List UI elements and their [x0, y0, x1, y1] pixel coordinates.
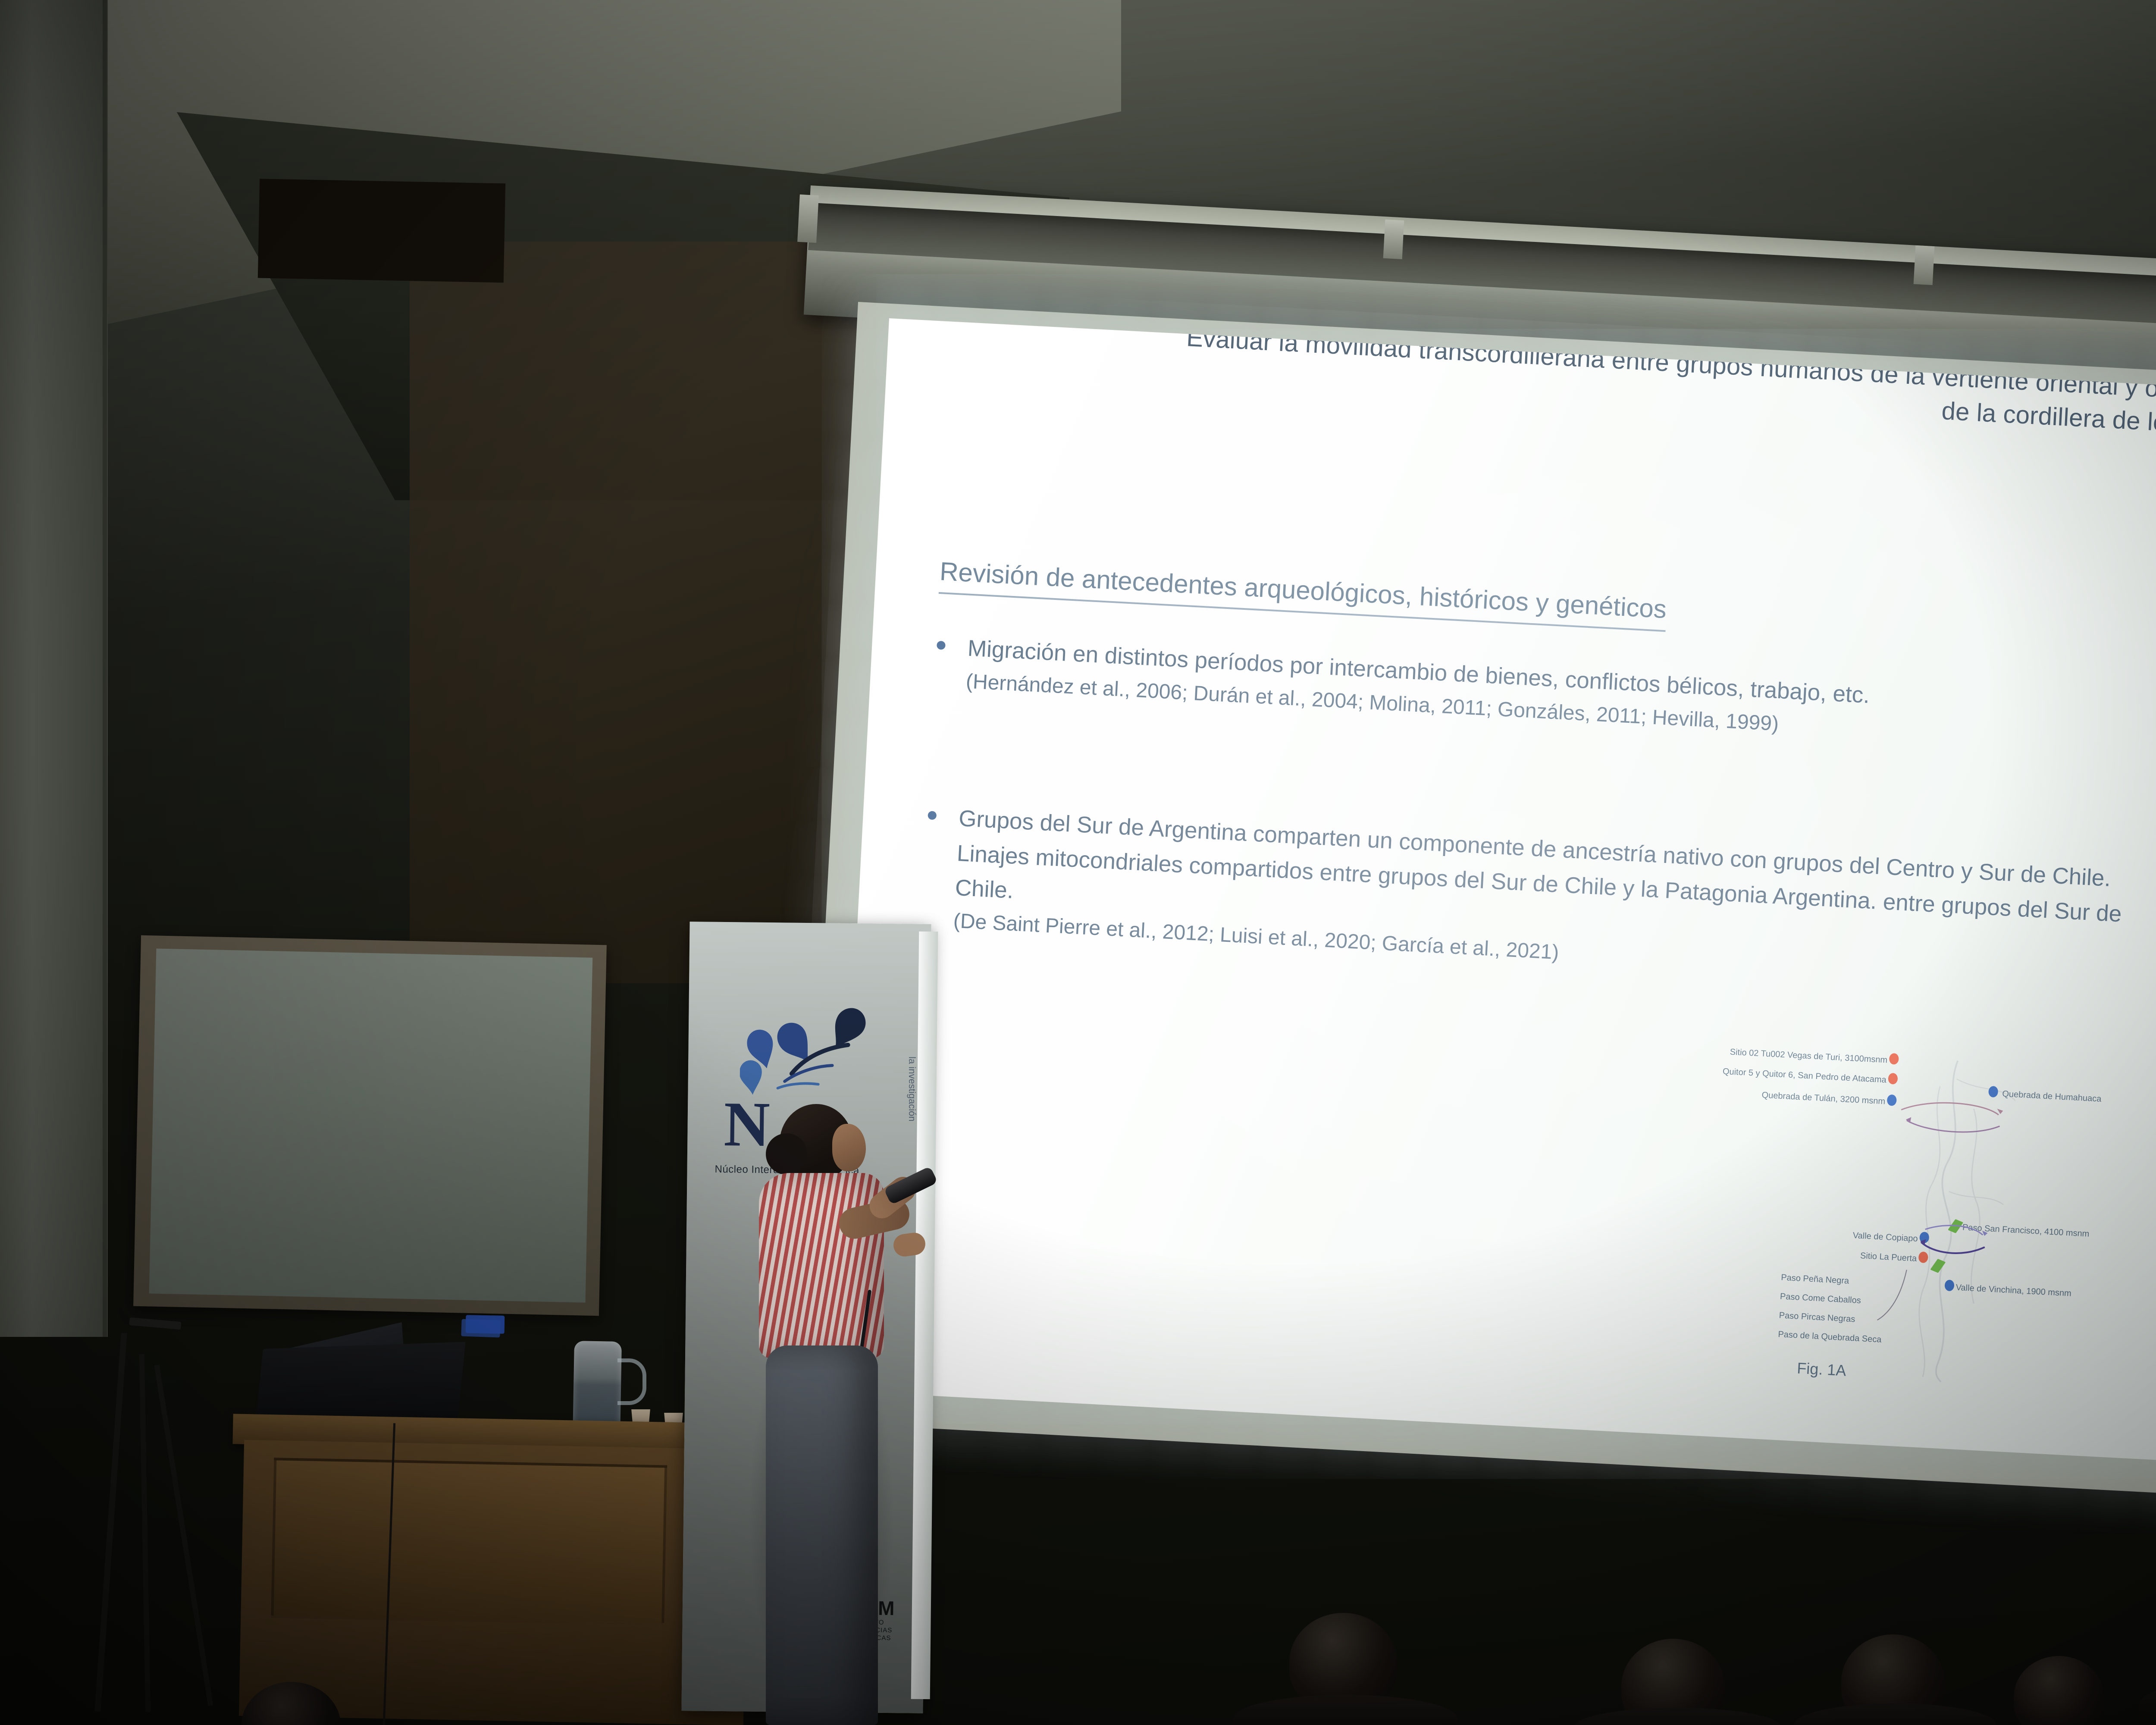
slide-subtitle: Revisión de antecedentes arqueológicos, … [939, 556, 1667, 632]
whiteboard-ghost-text: Ene [295, 1072, 370, 1117]
speaker-legs [766, 1345, 878, 1725]
speaker-hand [892, 1231, 927, 1258]
wall-pillar [0, 0, 108, 1337]
desk-front-panel [271, 1458, 667, 1625]
bullet-dot-icon [937, 641, 946, 650]
photograph-scene: Evaluar la movilidad transcordillerana e… [0, 0, 2156, 1725]
migration-arrows-icon [1745, 1038, 2156, 1406]
speaker-hair-bun [766, 1133, 807, 1175]
speaker-face [832, 1124, 866, 1171]
presentation-slide: Evaluar la movilidad transcordillerana e… [833, 318, 2156, 1465]
slide-bullet: Migración en distintos períodos por inte… [934, 630, 2156, 759]
screen-bracket [1914, 245, 1935, 285]
whiteboard: Ene [133, 935, 607, 1316]
desk-body [239, 1440, 749, 1725]
water-jug-handle [617, 1358, 646, 1405]
slide-bullet: Grupos del Sur de Argentina comparten un… [921, 800, 2147, 998]
projection-screen: Evaluar la movilidad transcordillerana e… [833, 318, 2156, 1465]
figure-caption: Fig. 1A [1796, 1359, 1846, 1380]
wall-pillar-edge [103, 0, 107, 1337]
blue-box [466, 1315, 505, 1334]
whiteboard-surface: Ene [149, 949, 593, 1303]
desk-knee-hole [258, 179, 505, 283]
slide-figure-map: Sitio 02 Tu002 Vegas de Turi, 3100msnm Q… [1745, 1038, 2156, 1406]
bullet-dot-icon [928, 811, 937, 820]
screen-bracket [1383, 220, 1404, 259]
speaker-presenter [724, 1104, 923, 1725]
screen-bracket [797, 194, 819, 243]
